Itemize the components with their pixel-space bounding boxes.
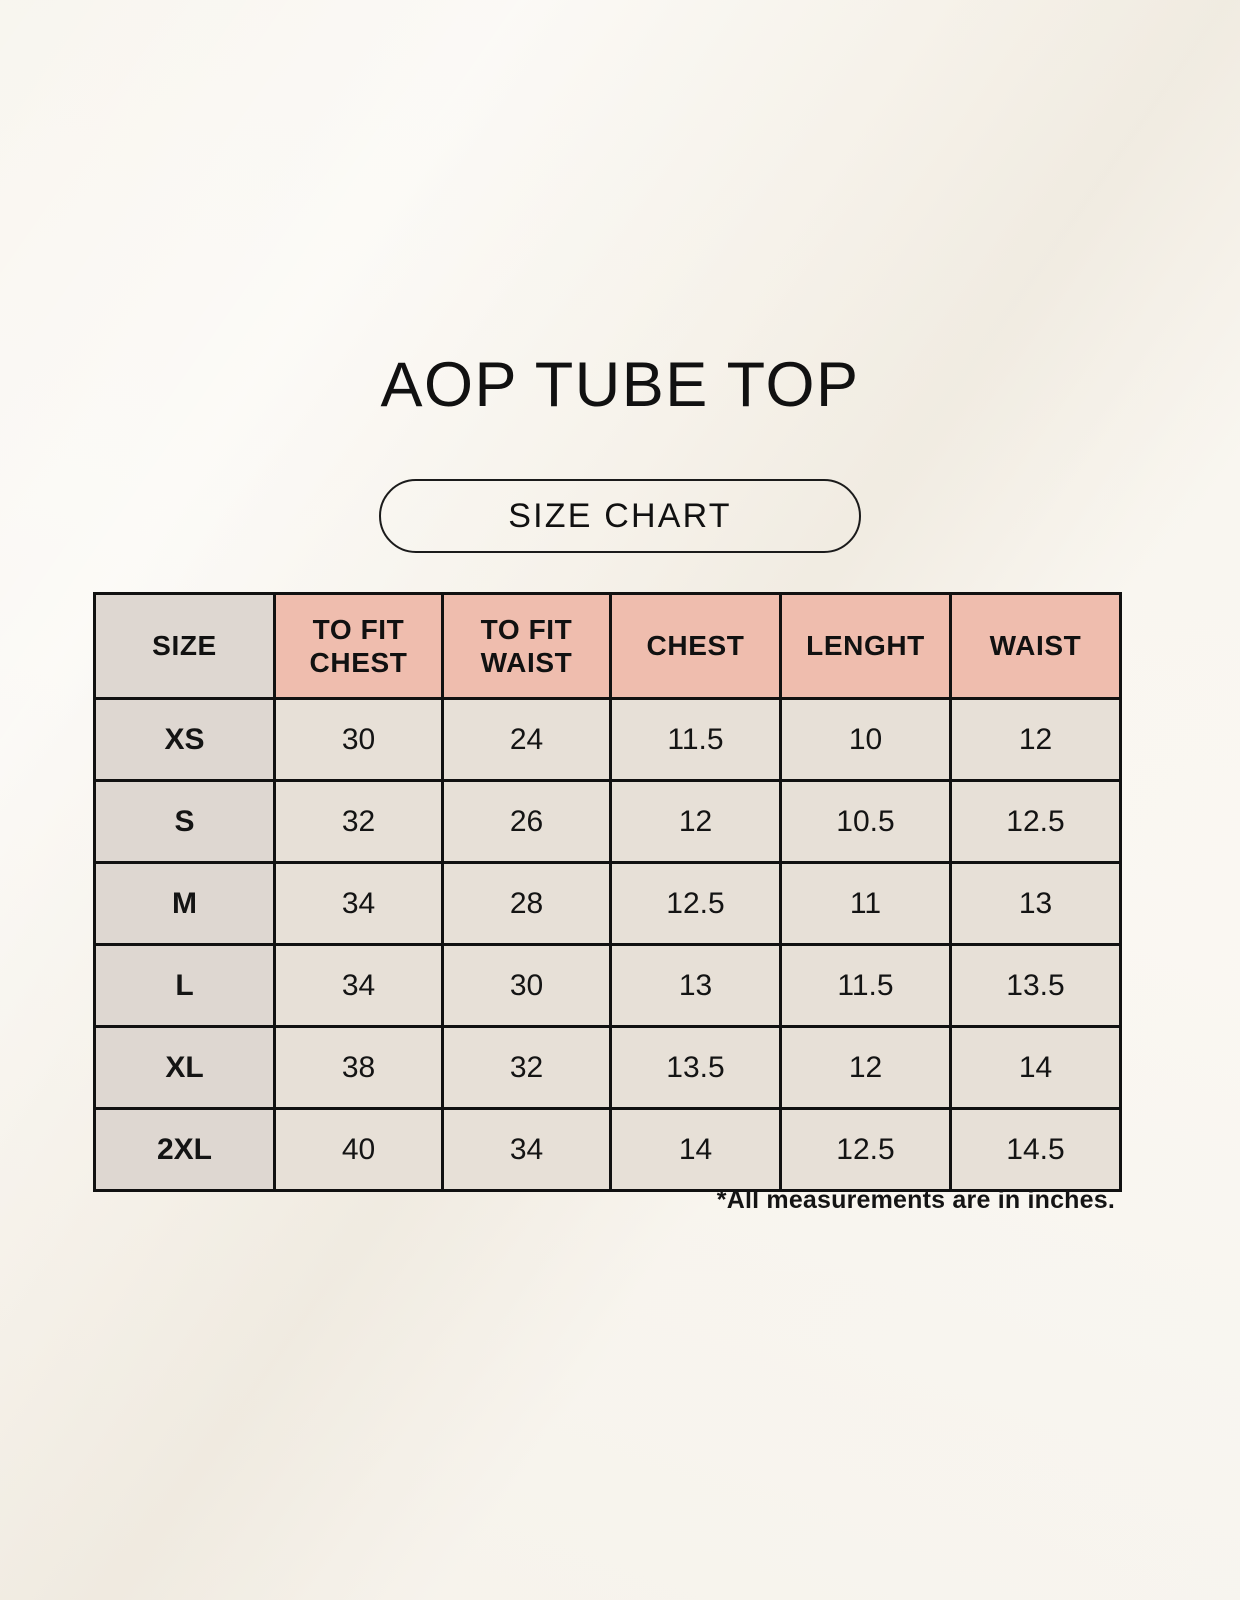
- table-row: M 34 28 12.5 11 13: [95, 863, 1121, 945]
- cell-chest: 11.5: [611, 699, 781, 781]
- column-header-to-fit-chest: TO FIT CHEST: [275, 594, 443, 699]
- cell-size: 2XL: [95, 1109, 275, 1191]
- cell-lenght: 10: [781, 699, 951, 781]
- cell-size: S: [95, 781, 275, 863]
- column-header-size: SIZE: [95, 594, 275, 699]
- cell-size: L: [95, 945, 275, 1027]
- column-header-chest-text: CHEST: [612, 629, 779, 662]
- table-header: SIZE TO FIT CHEST TO FIT WAIST CHEST LEN: [95, 594, 1121, 699]
- column-header-lenght: LENGHT: [781, 594, 951, 699]
- column-header-to-fit-waist-line1: TO FIT: [444, 613, 609, 646]
- cell-to-fit-waist: 32: [443, 1027, 611, 1109]
- cell-to-fit-waist: 24: [443, 699, 611, 781]
- cell-lenght: 11.5: [781, 945, 951, 1027]
- cell-waist: 12.5: [951, 781, 1121, 863]
- cell-waist: 13: [951, 863, 1121, 945]
- cell-size: XL: [95, 1027, 275, 1109]
- cell-to-fit-waist: 28: [443, 863, 611, 945]
- cell-lenght: 10.5: [781, 781, 951, 863]
- cell-to-fit-chest: 38: [275, 1027, 443, 1109]
- cell-to-fit-chest: 34: [275, 863, 443, 945]
- cell-waist: 13.5: [951, 945, 1121, 1027]
- cell-to-fit-chest: 30: [275, 699, 443, 781]
- cell-chest: 12.5: [611, 863, 781, 945]
- table-row: XS 30 24 11.5 10 12: [95, 699, 1121, 781]
- measurements-footnote: *All measurements are in inches.: [93, 1186, 1115, 1215]
- cell-chest: 13: [611, 945, 781, 1027]
- table-row: S 32 26 12 10.5 12.5: [95, 781, 1121, 863]
- column-header-size-text: SIZE: [96, 629, 273, 662]
- column-header-waist: WAIST: [951, 594, 1121, 699]
- cell-chest: 13.5: [611, 1027, 781, 1109]
- column-header-lenght-text: LENGHT: [782, 629, 949, 662]
- cell-size: XS: [95, 699, 275, 781]
- cell-to-fit-waist: 30: [443, 945, 611, 1027]
- cell-waist: 12: [951, 699, 1121, 781]
- column-header-to-fit-waist-line2: WAIST: [444, 646, 609, 679]
- cell-lenght: 12.5: [781, 1109, 951, 1191]
- cell-lenght: 11: [781, 863, 951, 945]
- table-header-row: SIZE TO FIT CHEST TO FIT WAIST CHEST LEN: [95, 594, 1121, 699]
- size-chart-badge-wrap: SIZE CHART: [0, 479, 1240, 553]
- column-header-to-fit-chest-line1: TO FIT: [276, 613, 441, 646]
- column-header-chest: CHEST: [611, 594, 781, 699]
- cell-to-fit-chest: 40: [275, 1109, 443, 1191]
- size-chart-table-wrap: SIZE TO FIT CHEST TO FIT WAIST CHEST LEN: [93, 592, 1115, 1192]
- page-title: AOP TUBE TOP: [0, 352, 1240, 418]
- cell-to-fit-chest: 32: [275, 781, 443, 863]
- column-header-to-fit-chest-line2: CHEST: [276, 646, 441, 679]
- cell-to-fit-waist: 26: [443, 781, 611, 863]
- cell-to-fit-chest: 34: [275, 945, 443, 1027]
- cell-waist: 14.5: [951, 1109, 1121, 1191]
- size-chart-table: SIZE TO FIT CHEST TO FIT WAIST CHEST LEN: [93, 592, 1122, 1192]
- cell-waist: 14: [951, 1027, 1121, 1109]
- column-header-waist-text: WAIST: [952, 629, 1119, 662]
- size-chart-badge: SIZE CHART: [379, 479, 861, 553]
- table-body: XS 30 24 11.5 10 12 S 32 26 12 10.5 12.5…: [95, 699, 1121, 1191]
- cell-size: M: [95, 863, 275, 945]
- table-row: 2XL 40 34 14 12.5 14.5: [95, 1109, 1121, 1191]
- table-row: XL 38 32 13.5 12 14: [95, 1027, 1121, 1109]
- cell-lenght: 12: [781, 1027, 951, 1109]
- cell-chest: 14: [611, 1109, 781, 1191]
- column-header-to-fit-waist: TO FIT WAIST: [443, 594, 611, 699]
- cell-to-fit-waist: 34: [443, 1109, 611, 1191]
- table-row: L 34 30 13 11.5 13.5: [95, 945, 1121, 1027]
- cell-chest: 12: [611, 781, 781, 863]
- size-chart-page: AOP TUBE TOP SIZE CHART SIZE TO FIT: [0, 0, 1240, 1600]
